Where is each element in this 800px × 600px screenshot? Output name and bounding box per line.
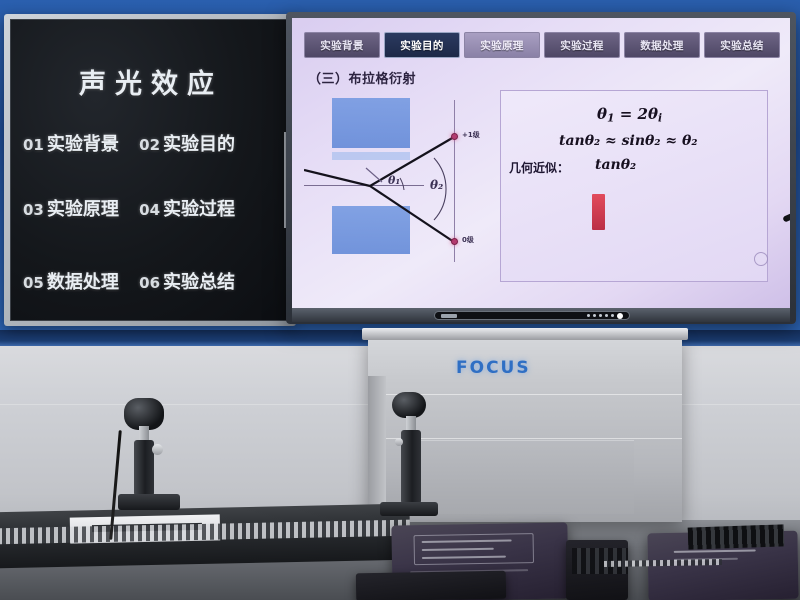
- outline-item-03: 03实验原理: [23, 195, 119, 221]
- tab-experiment-principle[interactable]: 实验原理: [464, 32, 540, 58]
- indicator-dot: [611, 314, 614, 317]
- adjustment-knob[interactable]: [395, 438, 403, 446]
- outline-item-04: 04实验过程: [139, 195, 235, 221]
- blackboard-surface: 声光效应 01实验背景 02实验目的 03实验原理 04实验过程 05数据处理 …: [10, 19, 292, 321]
- geometric-approximation-label: 几何近似：: [509, 159, 569, 176]
- optical-mount-post: [134, 440, 154, 496]
- outline-item-02: 02实验目的: [139, 130, 235, 156]
- adjustment-knob[interactable]: [152, 444, 163, 455]
- blackboard-outline-row-2: 03实验原理 04实验过程: [23, 195, 283, 221]
- label-order-plus1: +1级: [462, 130, 480, 140]
- slide-tabbar: 实验背景 实验目的 实验原理 实验过程 数据处理 实验总结: [304, 32, 780, 58]
- blackboard-outline-row-1: 01实验背景 02实验目的: [23, 130, 283, 156]
- display-control-strip[interactable]: [434, 311, 630, 320]
- smart-display: 实验背景 实验目的 实验原理 实验过程 数据处理 实验总结 （三）布拉格衍射: [286, 12, 796, 324]
- optical-mount-post: [401, 430, 421, 504]
- optical-component-head: [392, 392, 426, 418]
- indicator-dot: [587, 314, 590, 317]
- slide-watermark-icon: [754, 252, 768, 266]
- formula-small-angle-approximation: tanθ₂ ≈ sinθ₂ ≈ θ₂: [559, 133, 697, 149]
- power-indicator-dot[interactable]: [617, 313, 623, 319]
- classroom-scene: 声光效应 01实验背景 02实验目的 03实验原理 04实验过程 05数据处理 …: [0, 0, 800, 600]
- blackboard-title: 声光效应: [11, 62, 291, 101]
- tab-experiment-summary[interactable]: 实验总结: [704, 32, 780, 58]
- slide-red-marker: [592, 194, 605, 230]
- bench-foreground-edge: [356, 571, 506, 600]
- panel-text-line: [674, 549, 756, 552]
- equipment-vent-grille-right: [688, 524, 785, 549]
- optical-mount-base: [118, 494, 180, 510]
- tab-experiment-objective[interactable]: 实验目的: [384, 32, 460, 58]
- bragg-diffraction-diagram: +1级 0级 θ₁ θ₂: [304, 90, 494, 280]
- display-indicator-dots: [587, 313, 623, 319]
- podium-front-panel: [414, 440, 634, 514]
- indicator-dot: [593, 314, 596, 317]
- diffraction-node-order-zero: [451, 238, 458, 245]
- outline-item-01: 01实验背景: [23, 130, 119, 156]
- angle-theta2-label: θ₂: [430, 178, 443, 192]
- blackboard: 声光效应 01实验背景 02实验目的 03实验原理 04实验过程 05数据处理 …: [4, 14, 296, 326]
- display-brand-mark-icon: [441, 314, 457, 318]
- indicator-dot: [605, 314, 608, 317]
- tab-experiment-procedure[interactable]: 实验过程: [544, 32, 620, 58]
- formula-tan-theta2: tanθ₂: [595, 157, 636, 173]
- indicator-dot: [599, 314, 602, 317]
- angle-theta1-label: θ₁: [388, 174, 400, 187]
- formula-theta1: θ1 = 2θi: [597, 105, 662, 125]
- display-screen[interactable]: 实验背景 实验目的 实验原理 实验过程 数据处理 实验总结 （三）布拉格衍射: [292, 18, 790, 308]
- podium-brand-label: FOCUS: [456, 358, 531, 378]
- display-bottom-bezel: [292, 308, 790, 322]
- podium-desktop: [362, 328, 688, 340]
- diffraction-node-order-plus1: [451, 133, 458, 140]
- tab-experiment-background[interactable]: 实验背景: [304, 32, 380, 58]
- blackboard-outline-row-3: 05数据处理 06实验总结: [23, 268, 283, 294]
- outline-item-06: 06实验总结: [139, 268, 235, 294]
- outline-item-05: 05数据处理: [23, 268, 119, 294]
- optical-mount-base: [380, 502, 438, 516]
- formula-panel: θ1 = 2θi tanθ₂ ≈ sinθ₂ ≈ θ₂ 几何近似： tanθ₂: [500, 90, 768, 282]
- slide-heading: （三）布拉格衍射: [308, 68, 416, 87]
- podium-side-panel: [368, 376, 386, 522]
- presentation-slide: 实验背景 实验目的 实验原理 实验过程 数据处理 实验总结 （三）布拉格衍射: [292, 18, 790, 308]
- label-order-zero: 0级: [462, 235, 474, 245]
- tab-data-processing[interactable]: 数据处理: [624, 32, 700, 58]
